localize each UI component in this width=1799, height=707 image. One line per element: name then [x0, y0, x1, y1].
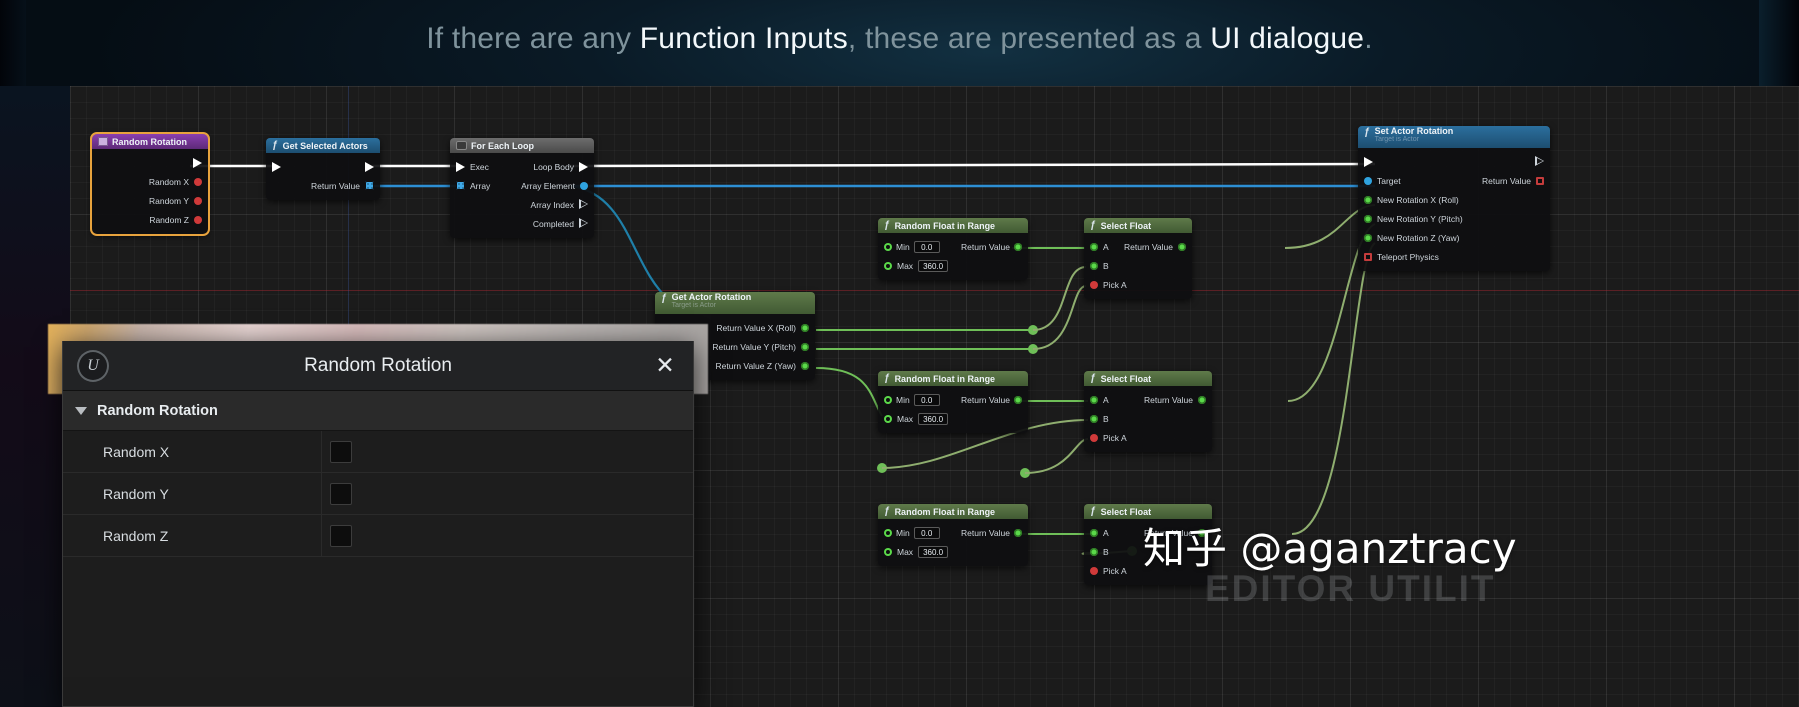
node-get-selected-actors-header: ƒ Get Selected Actors — [266, 138, 380, 153]
pin-row-exec[interactable]: Exec Loop Body — [450, 157, 594, 176]
macro-icon — [98, 137, 108, 146]
node-select-float-1-header: ƒ Select Float — [1084, 218, 1192, 233]
checkbox-random-x[interactable] — [330, 441, 352, 463]
pin-label-teleport-physics: Teleport Physics — [1377, 252, 1439, 262]
function-icon: ƒ — [1364, 127, 1371, 138]
array-pin-icon[interactable] — [456, 181, 465, 190]
node-random-float-1-body: Min 0.0 Return Value Max 360.0 — [878, 233, 1028, 280]
node-random-float-in-range-2[interactable]: ƒ Random Float in Range Min 0.0 Return V… — [878, 371, 1028, 433]
node-get-actor-rotation-header: ƒ Get Actor Rotation Target is Actor — [655, 292, 815, 314]
pin-row-exec[interactable] — [1358, 152, 1550, 171]
dialog-empty-area — [63, 557, 693, 677]
pin-label-b: B — [1103, 547, 1109, 557]
node-get-selected-actors-title: Get Selected Actors — [283, 141, 368, 151]
float-pin-return-icon[interactable] — [1014, 396, 1022, 404]
pin-label-loop-body: Loop Body — [533, 162, 574, 172]
graph-left-strip — [0, 86, 70, 707]
dialog-row-label: Random Y — [63, 486, 321, 502]
pin-row-random-z[interactable]: Random Z — [92, 210, 208, 229]
min-value-input[interactable]: 0.0 — [914, 241, 940, 253]
pin-row-min[interactable]: Min 0.0 Return Value — [878, 237, 1028, 256]
dialog-section-header[interactable]: Random Rotation — [63, 391, 693, 431]
node-random-rotation-title: Random Rotation — [112, 137, 187, 147]
pin-row-max[interactable]: Max 360.0 — [878, 542, 1028, 561]
pin-label-random-x: Random X — [149, 177, 189, 187]
dialog-row-label: Random Z — [63, 528, 321, 544]
node-get-selected-actors[interactable]: ƒ Get Selected Actors Return Value — [266, 138, 380, 200]
pin-label-return-value: Return Value — [1482, 176, 1531, 186]
node-set-actor-rotation-title: Set Actor Rotation — [1375, 127, 1454, 136]
min-value-input[interactable]: 0.0 — [914, 527, 940, 539]
pin-label-min: Min — [896, 395, 910, 405]
pin-label-a: A — [1103, 395, 1109, 405]
float-pin-new-rotation-z-icon[interactable] — [1364, 234, 1372, 242]
pin-row-random-x[interactable]: Random X — [92, 172, 208, 191]
headline-part-2: , these are presented as a — [848, 22, 1210, 55]
headline: If there are any Function Inputs, these … — [0, 22, 1799, 56]
float-pin-return-y-icon[interactable] — [801, 343, 809, 351]
min-value-input[interactable]: 0.0 — [914, 394, 940, 406]
pin-label-random-z: Random Z — [149, 215, 189, 225]
dialog-row-control[interactable] — [321, 515, 693, 556]
chevron-down-icon[interactable] — [75, 407, 87, 415]
node-select-float-1-title: Select Float — [1101, 221, 1152, 231]
pin-label-return-value-x: Return Value X (Roll) — [716, 323, 796, 333]
exec-in-icon[interactable] — [272, 162, 281, 172]
node-select-float-2[interactable]: ƒ Select Float A Return Value B — [1084, 371, 1212, 452]
node-set-actor-rotation-subtitle: Target is Actor — [1375, 136, 1454, 143]
node-random-rotation-body: Random X Random Y Random Z — [92, 149, 208, 234]
float-pin-return-icon[interactable] — [1014, 529, 1022, 537]
dialog-row-label: Random X — [63, 444, 321, 460]
node-for-each-loop-body: Exec Loop Body Array Array Element — [450, 153, 594, 238]
function-icon: ƒ — [884, 373, 891, 384]
exec-out-icon[interactable] — [1535, 157, 1544, 167]
float-pin-return-icon[interactable] — [1198, 396, 1206, 404]
float-pin-return-x-icon[interactable] — [801, 324, 809, 332]
pin-row-max[interactable]: Max 360.0 — [878, 409, 1028, 428]
pin-row-min[interactable]: Min 0.0 Return Value — [878, 390, 1028, 409]
pin-label-pick-a: Pick A — [1103, 566, 1127, 576]
headline-part-3: UI dialogue — [1210, 22, 1364, 55]
max-value-input[interactable]: 360.0 — [918, 260, 948, 272]
node-set-actor-rotation[interactable]: ƒ Set Actor Rotation Target is Actor Tar… — [1358, 126, 1550, 271]
node-for-each-loop-title: For Each Loop — [471, 141, 534, 151]
node-select-float-1[interactable]: ƒ Select Float A Return Value B — [1084, 218, 1192, 299]
graph-axis-x — [70, 290, 1799, 291]
float-pin-a-icon[interactable] — [1090, 529, 1098, 537]
headline-part-1: Function Inputs — [640, 22, 848, 55]
node-random-float-3-body: Min 0.0 Return Value Max 360.0 — [878, 519, 1028, 566]
close-icon[interactable]: ✕ — [653, 354, 677, 378]
function-icon: ƒ — [661, 293, 668, 304]
pin-label-random-y: Random Y — [149, 196, 189, 206]
function-icon: ƒ — [884, 506, 891, 517]
exec-out-icon[interactable] — [365, 162, 374, 172]
node-random-float-2-title: Random Float in Range — [895, 374, 996, 384]
pin-row-min[interactable]: Min 0.0 Return Value — [878, 523, 1028, 542]
float-pin-max-icon[interactable] — [884, 262, 892, 270]
screenshot-root: If there are any Function Inputs, these … — [0, 0, 1799, 707]
function-icon: ƒ — [884, 220, 891, 231]
bool-pin-pick-a-icon[interactable] — [1090, 434, 1098, 442]
node-select-float-2-body: A Return Value B Pick A — [1084, 386, 1212, 452]
object-pin-target-icon[interactable] — [1364, 177, 1372, 185]
node-random-float-in-range-3[interactable]: ƒ Random Float in Range Min 0.0 Return V… — [878, 504, 1028, 566]
pin-row-array[interactable]: Array Array Element — [450, 176, 594, 195]
pin-label-max: Max — [897, 414, 913, 424]
pin-label-new-rotation-y: New Rotation Y (Pitch) — [1377, 214, 1463, 224]
float-pin-return-icon[interactable] — [1014, 243, 1022, 251]
pin-row-b[interactable]: B — [1084, 256, 1192, 275]
node-random-float-in-range-1[interactable]: ƒ Random Float in Range Min 0.0 Return V… — [878, 218, 1028, 280]
node-random-rotation[interactable]: Random Rotation Random X Random Y Random… — [92, 134, 208, 234]
dialog-row-control[interactable] — [321, 431, 693, 472]
bool-pin-random-x-icon[interactable] — [194, 178, 202, 186]
pin-label-new-rotation-x: New Rotation X (Roll) — [1377, 195, 1459, 205]
function-inputs-dialog[interactable]: U Random Rotation ✕ Random Rotation Rand… — [62, 341, 694, 707]
node-random-rotation-header: Random Rotation — [92, 134, 208, 149]
pin-row-array-index[interactable]: Array Index — [450, 195, 594, 214]
pin-label-pick-a: Pick A — [1103, 433, 1127, 443]
bool-pin-teleport-physics-icon[interactable] — [1364, 253, 1372, 261]
dialog-row-random-z[interactable]: Random Z — [63, 515, 693, 557]
float-pin-min-icon[interactable] — [884, 243, 892, 251]
pin-row-teleport-physics[interactable]: Teleport Physics — [1358, 247, 1550, 266]
float-pin-b-icon[interactable] — [1090, 415, 1098, 423]
int-pin-array-index-icon[interactable] — [579, 200, 588, 210]
header-banner: If there are any Function Inputs, these … — [0, 0, 1799, 86]
watermark: 知乎 @aganztracy — [1143, 515, 1517, 576]
checkbox-random-z[interactable] — [330, 525, 352, 547]
pin-label-min: Min — [896, 528, 910, 538]
pin-row-exec-out[interactable] — [92, 153, 208, 172]
exec-out-completed-icon[interactable] — [579, 219, 588, 229]
bool-pin-pick-a-icon[interactable] — [1090, 281, 1098, 289]
dialog-section-label: Random Rotation — [97, 403, 218, 419]
node-get-actor-rotation-title: Get Actor Rotation — [672, 293, 752, 302]
pin-label-return-value: Return Value — [961, 528, 1010, 538]
dialog-row-random-x[interactable]: Random X — [63, 431, 693, 473]
pin-label-a: A — [1103, 528, 1109, 538]
bool-pin-return-icon[interactable] — [1536, 177, 1544, 185]
dialog-row-control[interactable] — [321, 473, 693, 514]
headline-part-0: If there are any — [426, 22, 640, 55]
pin-label-return-value: Return Value — [1144, 395, 1193, 405]
node-select-float-1-body: A Return Value B Pick A — [1084, 233, 1192, 299]
pin-label-return-value: Return Value — [1124, 242, 1173, 252]
pin-label-min: Min — [896, 242, 910, 252]
pin-label-pick-a: Pick A — [1103, 280, 1127, 290]
checkbox-random-y[interactable] — [330, 483, 352, 505]
pin-label-exec: Exec — [470, 162, 489, 172]
pin-label-return-value: Return Value — [311, 181, 360, 191]
pin-row-new-rotation-y[interactable]: New Rotation Y (Pitch) — [1358, 209, 1550, 228]
pin-row-completed[interactable]: Completed — [450, 214, 594, 233]
float-pin-a-icon[interactable] — [1090, 243, 1098, 251]
pin-label-completed: Completed — [533, 219, 574, 229]
pin-label-return-value-z: Return Value Z (Yaw) — [716, 361, 796, 371]
node-set-actor-rotation-header: ƒ Set Actor Rotation Target is Actor — [1358, 126, 1550, 148]
node-random-float-1-title: Random Float in Range — [895, 221, 996, 231]
macro-loop-icon — [456, 141, 467, 150]
pin-label-array-element: Array Element — [521, 181, 575, 191]
pin-label-max: Max — [897, 547, 913, 557]
pin-label-max: Max — [897, 261, 913, 271]
float-pin-min-icon[interactable] — [884, 396, 892, 404]
exec-in-icon[interactable] — [1364, 157, 1373, 167]
pin-label-b: B — [1103, 261, 1109, 271]
float-pin-return-z-icon[interactable] — [801, 362, 809, 370]
float-pin-new-rotation-y-icon[interactable] — [1364, 215, 1372, 223]
pin-row-new-rotation-x[interactable]: New Rotation X (Roll) — [1358, 190, 1550, 209]
exec-out-loop-body-icon[interactable] — [579, 162, 588, 172]
pin-row-return-value[interactable]: Return Value — [266, 176, 380, 195]
float-pin-new-rotation-x-icon[interactable] — [1364, 196, 1372, 204]
node-random-float-1-header: ƒ Random Float in Range — [878, 218, 1028, 233]
pin-label-a: A — [1103, 242, 1109, 252]
pin-label-return-value: Return Value — [961, 395, 1010, 405]
dialog-title: Random Rotation — [304, 355, 452, 377]
function-icon: ƒ — [1090, 220, 1097, 231]
dialog-row-random-y[interactable]: Random Y — [63, 473, 693, 515]
node-random-float-3-title: Random Float in Range — [895, 507, 996, 517]
dialog-titlebar: U Random Rotation ✕ — [63, 341, 693, 391]
node-get-selected-actors-body: Return Value — [266, 153, 380, 200]
function-icon: ƒ — [1090, 506, 1097, 517]
float-pin-a-icon[interactable] — [1090, 396, 1098, 404]
unreal-engine-logo: U — [77, 350, 109, 382]
pin-label-return-value: Return Value — [961, 242, 1010, 252]
pin-row-new-rotation-z[interactable]: New Rotation Z (Yaw) — [1358, 228, 1550, 247]
float-pin-min-icon[interactable] — [884, 529, 892, 537]
function-icon: ƒ — [1090, 373, 1097, 384]
pin-label-array: Array — [470, 181, 490, 191]
max-value-input[interactable]: 360.0 — [918, 546, 948, 558]
node-random-float-3-header: ƒ Random Float in Range — [878, 504, 1028, 519]
float-pin-max-icon[interactable] — [884, 415, 892, 423]
pin-row-target[interactable]: Target Return Value — [1358, 171, 1550, 190]
node-for-each-loop[interactable]: For Each Loop Exec Loop Body — [450, 138, 594, 238]
pin-row-a[interactable]: A Return Value — [1084, 390, 1212, 409]
exec-out-icon[interactable] — [193, 158, 202, 168]
pin-row-pick-a[interactable]: Pick A — [1084, 275, 1192, 294]
object-pin-array-element-icon[interactable] — [580, 182, 588, 190]
float-pin-b-icon[interactable] — [1090, 548, 1098, 556]
pin-row-b[interactable]: B — [1084, 409, 1212, 428]
node-random-float-2-header: ƒ Random Float in Range — [878, 371, 1028, 386]
node-set-actor-rotation-body: Target Return Value New Rotation X (Roll… — [1358, 148, 1550, 271]
node-select-float-2-header: ƒ Select Float — [1084, 371, 1212, 386]
pin-row-a[interactable]: A Return Value — [1084, 237, 1192, 256]
headline-part-4: . — [1364, 22, 1373, 55]
pin-row-exec[interactable] — [266, 157, 380, 176]
array-pin-icon[interactable] — [365, 181, 374, 190]
pin-label-new-rotation-z: New Rotation Z (Yaw) — [1377, 233, 1460, 243]
pin-label-return-value-y: Return Value Y (Pitch) — [712, 342, 796, 352]
pin-label-target: Target — [1377, 176, 1401, 186]
node-select-float-2-title: Select Float — [1101, 374, 1152, 384]
bool-pin-random-z-icon[interactable] — [194, 216, 202, 224]
pin-row-random-y[interactable]: Random Y — [92, 191, 208, 210]
exec-in-icon[interactable] — [456, 162, 465, 172]
bool-pin-pick-a-icon[interactable] — [1090, 567, 1098, 575]
pin-label-array-index: Array Index — [531, 200, 574, 210]
max-value-input[interactable]: 360.0 — [918, 413, 948, 425]
float-pin-max-icon[interactable] — [884, 548, 892, 556]
float-pin-return-icon[interactable] — [1178, 243, 1186, 251]
pin-row-max[interactable]: Max 360.0 — [878, 256, 1028, 275]
node-for-each-loop-header: For Each Loop — [450, 138, 594, 153]
float-pin-b-icon[interactable] — [1090, 262, 1098, 270]
node-random-float-2-body: Min 0.0 Return Value Max 360.0 — [878, 386, 1028, 433]
node-get-actor-rotation-subtitle: Target is Actor — [672, 302, 752, 309]
pin-label-b: B — [1103, 414, 1109, 424]
bool-pin-random-y-icon[interactable] — [194, 197, 202, 205]
pin-row-pick-a[interactable]: Pick A — [1084, 428, 1212, 447]
function-icon: ƒ — [272, 140, 279, 151]
